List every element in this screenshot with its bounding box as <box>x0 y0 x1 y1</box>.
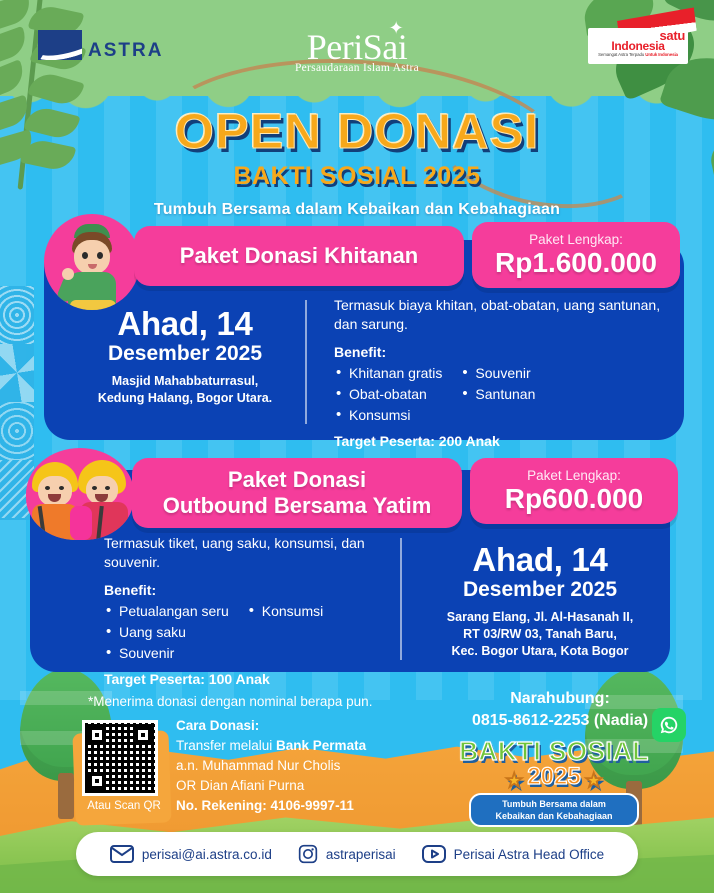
benefit-item: Khitanan gratis <box>334 363 442 384</box>
account-name: a.n. Muhammad Nur Cholis <box>176 756 366 776</box>
package2-detail: Termasuk tiket, uang saku, konsumsi, dan… <box>104 534 404 687</box>
package1-date-block: Ahad, 14 Desember 2025 Masjid Mahabbatur… <box>74 306 296 407</box>
package2-benefits: Petualangan seru Uang saku Souvenir Kons… <box>104 601 404 664</box>
package1-benefits: Khitanan gratis Obat-obatan Konsumsi Sou… <box>334 363 664 426</box>
qr-label: Atau Scan QR <box>78 800 170 812</box>
star-icon: ✦ <box>389 20 404 37</box>
package2-benefits-col1: Petualangan seru Uang saku Souvenir <box>104 601 229 664</box>
package1-date-day: Ahad, 14 <box>74 306 296 342</box>
poster-title: OPEN DONASI <box>0 104 714 160</box>
account-number: No. Rekening: 4106-9997-11 <box>176 796 366 816</box>
package2-date-block: Ahad, 14 Desember 2025 Sarang Elang, Jl.… <box>416 542 664 660</box>
avatar-boy-khitanan <box>44 214 140 310</box>
benefit-item: Souvenir <box>460 363 535 384</box>
package1-detail: Termasuk biaya khitan, obat-obatan, uang… <box>334 296 664 449</box>
footer-email-text: perisai@ai.astra.co.id <box>142 847 272 862</box>
transfer-line: Transfer melalui Bank Permata <box>176 736 366 756</box>
footer-contact-bar: perisai@ai.astra.co.id astraperisai Peri… <box>76 832 638 876</box>
contact-phone[interactable]: 0815-8612-2253 (Nadia) <box>430 710 690 732</box>
package2-price-value: Rp600.000 <box>505 484 644 514</box>
footer-youtube-item[interactable]: Perisai Astra Head Office <box>422 845 605 863</box>
satu-indonesia-logo: satu Indonesia Semangat Astra Terpadu Un… <box>588 18 692 66</box>
package2-divider <box>400 538 402 660</box>
package1-intro: Termasuk biaya khitan, obat-obatan, uang… <box>334 296 664 334</box>
footer-youtube-text: Perisai Astra Head Office <box>454 847 605 862</box>
package1-benefit-heading: Benefit: <box>334 344 664 360</box>
bank-details: Cara Donasi: Transfer melalui Bank Perma… <box>176 716 366 816</box>
contact-heading: Narahubung: <box>430 688 690 710</box>
package1-address: Masjid Mahabbaturrasul, Kedung Halang, B… <box>74 373 296 407</box>
star-icon-right: ★ <box>585 768 603 794</box>
package2-price-label: Paket Lengkap: <box>527 468 621 484</box>
package1-title: Paket Donasi Khitanan <box>180 243 418 269</box>
package2-target: Target Peserta: 100 Anak <box>104 671 404 687</box>
star-icon-left: ★ <box>505 768 523 794</box>
package2-title-line1: Paket Donasi <box>228 467 366 492</box>
contact-block: Narahubung: 0815-8612-2253 (Nadia) <box>430 688 690 732</box>
satu-indonesia-wordmark: satu Indonesia Semangat Astra Terpadu Un… <box>588 28 688 64</box>
benefit-item: Obat-obatan <box>334 384 442 405</box>
satu-text-line3: Semangat Astra Terpadu Untuk Indonesia <box>591 52 685 58</box>
package1-benefits-col1: Khitanan gratis Obat-obatan Konsumsi <box>334 363 442 426</box>
donation-note: *Menerima donasi dengan nominal berapa p… <box>88 694 372 709</box>
package1-title-pill: Paket Donasi Khitanan <box>134 226 464 286</box>
package2-price-pill: Paket Lengkap: Rp600.000 <box>470 458 678 524</box>
avatar-children-outbound <box>26 448 134 540</box>
package2-date-day: Ahad, 14 <box>416 542 664 578</box>
how-to-donate-heading: Cara Donasi: <box>176 716 366 736</box>
package1-price-pill: Paket Lengkap: Rp1.600.000 <box>472 222 680 288</box>
poster-subtitle: BAKTI SOSIAL 2025 <box>0 162 714 191</box>
package2-benefit-heading: Benefit: <box>104 582 404 598</box>
benefit-item: Souvenir <box>104 643 229 664</box>
package2-title: Paket Donasi Outbound Bersama Yatim <box>163 467 432 519</box>
package2-date-month: Desember 2025 <box>416 578 664 602</box>
badge-title: BAKTI SOSIAL <box>454 738 654 764</box>
package1-benefits-col2: Souvenir Santunan <box>460 363 535 426</box>
account-name-alt: OR Dian Afiani Purna <box>176 776 366 796</box>
title-block: OPEN DONASI BAKTI SOSIAL 2025 Tumbuh Ber… <box>0 104 714 219</box>
poster-root: ASTRA PeriSai ✦ Persaudaraan Islam Astra… <box>0 0 714 893</box>
package2-intro: Termasuk tiket, uang saku, konsumsi, dan… <box>104 534 404 572</box>
mail-icon <box>110 845 134 863</box>
package1-divider <box>305 300 307 424</box>
qr-block: Atau Scan QR <box>78 716 170 822</box>
bakti-sosial-badge: BAKTI SOSIAL ★ 2025 ★ Tumbuh Bersama dal… <box>454 738 654 827</box>
package1-price-label: Paket Lengkap: <box>529 232 623 248</box>
benefit-item: Konsumsi <box>247 601 323 622</box>
package2-benefits-col2: Konsumsi <box>247 601 323 664</box>
package1-target: Target Peserta: 200 Anak <box>334 433 664 449</box>
whatsapp-icon[interactable] <box>652 708 686 742</box>
benefit-item: Santunan <box>460 384 535 405</box>
package1-price-value: Rp1.600.000 <box>495 248 657 278</box>
benefit-item: Konsumsi <box>334 405 442 426</box>
footer-instagram-item[interactable]: astraperisai <box>298 844 396 864</box>
footer-instagram-text: astraperisai <box>326 847 396 862</box>
footer-email-item[interactable]: perisai@ai.astra.co.id <box>110 845 272 863</box>
badge-ribbon: Tumbuh Bersama dalam Kebaikan dan Kebaha… <box>469 793 639 827</box>
benefit-item: Petualangan seru <box>104 601 229 622</box>
qr-code-image <box>82 720 158 796</box>
package1-date-month: Desember 2025 <box>74 342 296 366</box>
badge-year: ★ 2025 ★ <box>505 764 602 790</box>
perisai-logo-text: PeriSai ✦ <box>307 30 408 64</box>
youtube-icon <box>422 845 446 863</box>
instagram-icon <box>298 844 318 864</box>
package2-address: Sarang Elang, Jl. Al-Hasanah II, RT 03/R… <box>416 609 664 660</box>
package2-title-pill: Paket Donasi Outbound Bersama Yatim <box>132 458 462 528</box>
benefit-item: Uang saku <box>104 622 229 643</box>
package2-title-line2: Outbound Bersama Yatim <box>163 493 432 518</box>
